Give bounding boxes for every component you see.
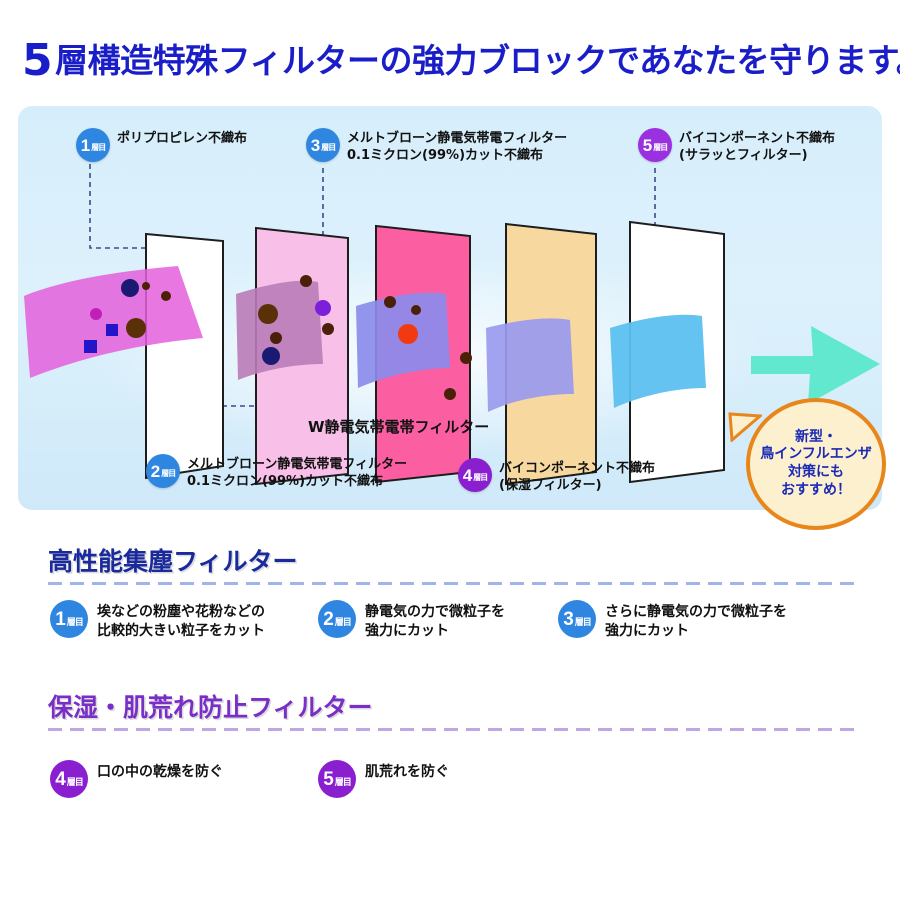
badge-suffix: 層目 [334, 612, 351, 627]
feature-item-4: 4層目 口の中の乾燥を防ぐ [50, 760, 300, 798]
badge-suffix: 層目 [66, 612, 83, 627]
badge-suffix: 層目 [66, 772, 83, 787]
callout-layer-4: 4層目 バイコンポーネント不織布 (保湿フィルター) [458, 458, 655, 495]
title-bar: 5層構造特殊フィルターの強力ブロックであなたを守ります。 [0, 34, 900, 96]
badge-suffix: 層目 [320, 139, 335, 152]
callout-layer-1: 1層目 ポリプロピレン不織布 [76, 128, 247, 162]
title-text: 層構造特殊フィルターの強力ブロックであなたを守ります。 [55, 41, 900, 80]
badge-number: 1 [81, 137, 90, 154]
callout-text: バイコンポーネント不織布 (サラッとフィルター) [679, 128, 835, 165]
layer-badge-4: 4層目 [458, 458, 492, 492]
speech-bubble: 新型・ 鳥インフルエンザ 対策にも おすすめ！ [746, 398, 886, 530]
layer-badge-3: 3層目 [306, 128, 340, 162]
feature-badge-5: 5層目 [318, 760, 356, 798]
badge-suffix: 層目 [652, 139, 667, 152]
feature-text: 埃などの粉塵や花粉などの 比較的大きい粒子をカット [97, 600, 265, 642]
title-lead-number: 5 [22, 35, 55, 86]
callout-text: メルトブローン静電気帯電フィルター 0.1ミクロン(99%)カット不織布 [187, 454, 407, 491]
badge-suffix: 層目 [90, 139, 105, 152]
feature-text: 静電気の力で微粒子を 強力にカット [365, 600, 505, 642]
layer-badge-5: 5層目 [638, 128, 672, 162]
feature-badge-3: 3層目 [558, 600, 596, 638]
badge-number: 4 [463, 467, 472, 484]
section-heading-moisture: 保湿・肌荒れ防止フィルター [48, 688, 373, 724]
badge-number: 2 [151, 463, 160, 480]
layer-badge-2: 2層目 [146, 454, 180, 488]
callout-text: ポリプロピレン不織布 [117, 128, 247, 147]
badge-number: 5 [643, 137, 652, 154]
badge-suffix: 層目 [574, 612, 591, 627]
clean-air-arrow [751, 326, 880, 404]
layer-badge-1: 1層目 [76, 128, 110, 162]
badge-number: 1 [55, 610, 66, 629]
infographic-page: 5層構造特殊フィルターの強力ブロックであなたを守ります。 [0, 0, 900, 900]
feature-text: 肌荒れを防ぐ [365, 760, 449, 782]
badge-number: 2 [323, 610, 334, 629]
feature-item-5: 5層目 肌荒れを防ぐ [318, 760, 558, 798]
badge-suffix: 層目 [160, 465, 175, 478]
feature-text: さらに静電気の力で微粒子を 強力にカット [605, 600, 787, 642]
section-divider-dust [48, 582, 854, 585]
badge-number: 3 [563, 610, 574, 629]
callout-text: バイコンポーネント不織布 (保湿フィルター) [499, 458, 655, 495]
feature-badge-1: 1層目 [50, 600, 88, 638]
features-card: 高性能集塵フィルター 1層目 埃などの粉塵や花粉などの 比較的大きい粒子をカット… [18, 520, 882, 838]
section-heading-dust: 高性能集塵フィルター [48, 542, 298, 578]
feature-badge-2: 2層目 [318, 600, 356, 638]
bracket-label: W静電気帯電帯フィルター [308, 416, 489, 437]
badge-suffix: 層目 [472, 469, 487, 482]
callout-text: メルトブローン静電気帯電フィルター 0.1ミクロン(99%)カット不織布 [347, 128, 567, 165]
callout-layer-5: 5層目 バイコンポーネント不織布 (サラッとフィルター) [638, 128, 835, 165]
feature-text: 口の中の乾燥を防ぐ [97, 760, 223, 782]
callout-layer-2: 2層目 メルトブローン静電気帯電フィルター 0.1ミクロン(99%)カット不織布 [146, 454, 407, 491]
feature-item-1: 1層目 埃などの粉塵や花粉などの 比較的大きい粒子をカット [50, 600, 300, 642]
feature-item-3: 3層目 さらに静電気の力で微粒子を 強力にカット [558, 600, 848, 642]
badge-suffix: 層目 [334, 772, 351, 787]
callout-layer-3: 3層目 メルトブローン静電気帯電フィルター 0.1ミクロン(99%)カット不織布 [306, 128, 567, 165]
page-title: 5層構造特殊フィルターの強力ブロックであなたを守ります。 [22, 34, 900, 83]
feature-badge-4: 4層目 [50, 760, 88, 798]
feature-item-2: 2層目 静電気の力で微粒子を 強力にカット [318, 600, 558, 642]
speech-bubble-text: 新型・ 鳥インフルエンザ 対策にも おすすめ！ [760, 429, 872, 500]
section-divider-moisture [48, 728, 854, 731]
badge-number: 5 [323, 770, 334, 789]
badge-number: 3 [311, 137, 320, 154]
badge-number: 4 [55, 770, 66, 789]
